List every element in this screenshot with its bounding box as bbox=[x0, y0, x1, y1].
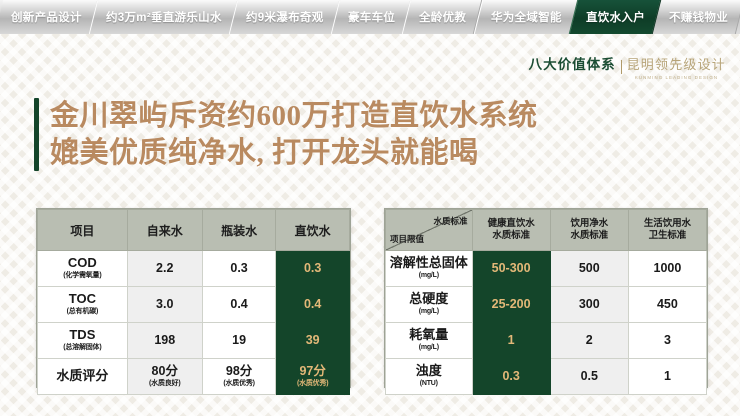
nav-tab-0[interactable]: 创新产品设计 bbox=[0, 0, 98, 34]
cell-tap-cod: 2.2 bbox=[127, 251, 202, 287]
header-diagonal-corner: 水质标准 项目限值 bbox=[386, 210, 473, 251]
cell-value: 25-200 bbox=[475, 298, 548, 312]
cell-value: 300 bbox=[553, 298, 626, 312]
header-healthy-direct-drinking: 健康直饮水 水质标准 bbox=[472, 210, 550, 251]
nav-tab-6-active[interactable]: 直饮水入户 bbox=[568, 0, 661, 34]
row-label-unit: (NTU) bbox=[388, 380, 470, 389]
row-label-main: 耗氧量 bbox=[388, 328, 470, 342]
cell-value: 0.3 bbox=[475, 370, 548, 384]
cell-bottled-cod: 0.3 bbox=[202, 251, 276, 287]
standards-table-head: 水质标准 项目限值 健康直饮水 水质标准 饮用净水 水质标准 生活饮用水 卫生标… bbox=[386, 210, 707, 251]
brand-sub-english: KUNMING LEADING DESIGN bbox=[635, 75, 718, 80]
header-line-2: 卫生标准 bbox=[631, 230, 704, 242]
cell-value: 0.3 bbox=[205, 262, 274, 276]
cell-tap-tds: 198 bbox=[127, 323, 202, 359]
cell-value: 0.3 bbox=[278, 262, 347, 276]
standards-grid: 水质标准 项目限值 健康直饮水 水质标准 饮用净水 水质标准 生活饮用水 卫生标… bbox=[385, 209, 707, 395]
headline-accent-bar bbox=[34, 98, 39, 171]
row-label-main: 水质评分 bbox=[40, 369, 125, 383]
cell-domestic-turbidity: 1 bbox=[628, 359, 706, 395]
header-bottled-water: 瓶装水 bbox=[202, 210, 276, 251]
corner-label-standard: 水质标准 bbox=[434, 215, 468, 227]
row-label-toc: TOC (总有机碳) bbox=[38, 287, 128, 323]
row-label-unit: (mg/L) bbox=[388, 344, 470, 353]
nav-tab-label: 华为全域智能 bbox=[490, 9, 561, 25]
cell-value: 2.2 bbox=[130, 262, 200, 276]
header-domestic-drinking: 生活饮用水 卫生标准 bbox=[628, 210, 706, 251]
row-label-sub: (总溶解固体) bbox=[40, 344, 125, 353]
cell-bottled-score: 98分 (水质优秀) bbox=[202, 359, 276, 395]
cell-value: 3 bbox=[631, 334, 704, 348]
cell-value-note: (水质优秀) bbox=[278, 380, 347, 389]
table-row: TOC (总有机碳) 3.0 0.4 0.4 bbox=[38, 287, 350, 323]
row-label-main: 浊度 bbox=[388, 364, 470, 378]
header-purified-drinking: 饮用净水 水质标准 bbox=[550, 210, 628, 251]
cell-value: 1 bbox=[475, 334, 548, 348]
header-line-2: 水质标准 bbox=[475, 230, 548, 242]
row-label-cod: COD (化学需氧量) bbox=[38, 251, 128, 287]
nav-tab-label: 直饮水入户 bbox=[585, 9, 644, 25]
cell-direct-tds: 39 bbox=[276, 323, 350, 359]
row-label-sub: (总有机碳) bbox=[40, 308, 125, 317]
cell-value: 0.4 bbox=[205, 298, 274, 312]
nav-tab-label: 约9米瀑布奇观 bbox=[246, 9, 324, 25]
row-label-main: 溶解性总固体 bbox=[388, 256, 470, 270]
cell-tap-score: 80分 (水质良好) bbox=[127, 359, 202, 395]
cell-healthy-oxygen-consumption: 1 bbox=[472, 323, 550, 359]
header-line-1: 饮用净水 bbox=[553, 218, 626, 230]
brand-main-text: 八大价值体系 bbox=[529, 58, 616, 73]
header-direct-drinking-water: 直饮水 bbox=[276, 210, 350, 251]
page-title: 金川翠屿斥资约600万打造直饮水系统 媲美优质纯净水, 打开龙头就能喝 bbox=[50, 98, 538, 171]
cell-healthy-total-hardness: 25-200 bbox=[472, 287, 550, 323]
cell-value: 97分 bbox=[278, 365, 347, 379]
cell-value: 198 bbox=[130, 334, 200, 348]
header-tap-water: 自来水 bbox=[127, 210, 202, 251]
cell-value: 2 bbox=[553, 334, 626, 348]
nav-tab-label: 创新产品设计 bbox=[11, 9, 82, 25]
nav-tab-4[interactable]: 全龄优教 bbox=[402, 0, 483, 34]
brand-divider bbox=[621, 60, 622, 74]
cell-value: 50-300 bbox=[475, 262, 548, 276]
brand-sub-text: 昆明领先级设计 bbox=[627, 58, 726, 73]
row-label-dissolved-solids: 溶解性总固体 (mg/L) bbox=[386, 251, 473, 287]
comparison-table-head: 项目 自来水 瓶装水 直饮水 bbox=[38, 210, 350, 251]
table-row: TDS (总溶解固体) 198 19 39 bbox=[38, 323, 350, 359]
table-row: 水质评分 80分 (水质良好) 98分 (水质优秀) 97分 (水质优秀) bbox=[38, 359, 350, 395]
cell-value: 1000 bbox=[631, 262, 704, 276]
cell-value: 0.5 bbox=[553, 370, 626, 384]
cell-healthy-turbidity: 0.3 bbox=[472, 359, 550, 395]
row-label-score: 水质评分 bbox=[38, 359, 128, 395]
cell-direct-cod: 0.3 bbox=[276, 251, 350, 287]
cell-value: 450 bbox=[631, 298, 704, 312]
row-label-sub: (化学需氧量) bbox=[40, 272, 125, 281]
cell-value: 39 bbox=[278, 334, 347, 348]
cell-domestic-dissolved-solids: 1000 bbox=[628, 251, 706, 287]
nav-tab-label: 全龄优教 bbox=[419, 9, 466, 25]
header-item: 项目 bbox=[38, 210, 128, 251]
cell-bottled-toc: 0.4 bbox=[202, 287, 276, 323]
comparison-grid: 项目 自来水 瓶装水 直饮水 COD (化学需氧量) 2.2 0.3 bbox=[37, 209, 350, 395]
nav-tab-3[interactable]: 豪车车位 bbox=[330, 0, 411, 34]
row-label-tds: TDS (总溶解固体) bbox=[38, 323, 128, 359]
standards-table-body: 溶解性总固体 (mg/L) 50-300 500 1000 总硬度 bbox=[386, 251, 707, 395]
nav-tab-5[interactable]: 华为全域智能 bbox=[473, 0, 578, 34]
row-label-turbidity: 浊度 (NTU) bbox=[386, 359, 473, 395]
table-header-row: 水质标准 项目限值 健康直饮水 水质标准 饮用净水 水质标准 生活饮用水 卫生标… bbox=[386, 210, 707, 251]
cell-domestic-total-hardness: 450 bbox=[628, 287, 706, 323]
nav-tab-1[interactable]: 约3万m²垂直游乐山水 bbox=[89, 0, 238, 34]
table-row: 耗氧量 (mg/L) 1 2 3 bbox=[386, 323, 707, 359]
nav-tab-label: 豪车车位 bbox=[347, 9, 394, 25]
water-comparison-table: 项目 自来水 瓶装水 直饮水 COD (化学需氧量) 2.2 0.3 bbox=[36, 208, 351, 388]
row-label-total-hardness: 总硬度 (mg/L) bbox=[386, 287, 473, 323]
comparison-table-body: COD (化学需氧量) 2.2 0.3 0.3 TOC bbox=[38, 251, 350, 395]
row-label-main: 总硬度 bbox=[388, 292, 470, 306]
row-label-main: COD bbox=[40, 256, 125, 270]
cell-value-note: (水质良好) bbox=[130, 380, 200, 389]
cell-healthy-dissolved-solids: 50-300 bbox=[472, 251, 550, 287]
cell-value: 0.4 bbox=[278, 298, 347, 312]
cell-purified-oxygen-consumption: 2 bbox=[550, 323, 628, 359]
slide-canvas: 创新产品设计 约3万m²垂直游乐山水 约9米瀑布奇观 豪车车位 全龄优教 华为全… bbox=[0, 0, 740, 416]
cell-purified-turbidity: 0.5 bbox=[550, 359, 628, 395]
cell-purified-total-hardness: 300 bbox=[550, 287, 628, 323]
top-navigation-bar: 创新产品设计 约3万m²垂直游乐山水 约9米瀑布奇观 豪车车位 全龄优教 华为全… bbox=[0, 0, 740, 34]
nav-tab-label: 不赚钱物业 bbox=[668, 9, 727, 25]
table-row: 溶解性总固体 (mg/L) 50-300 500 1000 bbox=[386, 251, 707, 287]
table-row: 总硬度 (mg/L) 25-200 300 450 bbox=[386, 287, 707, 323]
cell-value: 500 bbox=[553, 262, 626, 276]
header-line-2: 水质标准 bbox=[553, 230, 626, 242]
cell-purified-dissolved-solids: 500 bbox=[550, 251, 628, 287]
row-label-unit: (mg/L) bbox=[388, 272, 470, 281]
cell-tap-toc: 3.0 bbox=[127, 287, 202, 323]
cell-domestic-oxygen-consumption: 3 bbox=[628, 323, 706, 359]
table-row: COD (化学需氧量) 2.2 0.3 0.3 bbox=[38, 251, 350, 287]
table-row: 浊度 (NTU) 0.3 0.5 1 bbox=[386, 359, 707, 395]
row-label-unit: (mg/L) bbox=[388, 308, 470, 317]
cell-direct-toc: 0.4 bbox=[276, 287, 350, 323]
headline-block: 金川翠屿斥资约600万打造直饮水系统 媲美优质纯净水, 打开龙头就能喝 bbox=[34, 98, 538, 171]
row-label-main: TDS bbox=[40, 328, 125, 342]
row-label-main: TOC bbox=[40, 292, 125, 306]
brand-secondary-group: 昆明领先级设计 KUNMING LEADING DESIGN bbox=[627, 58, 726, 80]
cell-direct-score: 97分 (水质优秀) bbox=[276, 359, 350, 395]
table-header-row: 项目 自来水 瓶装水 直饮水 bbox=[38, 210, 350, 251]
cell-value-note: (水质优秀) bbox=[205, 380, 274, 389]
headline-line-1: 金川翠屿斥资约600万打造直饮水系统 bbox=[50, 98, 538, 135]
row-label-oxygen-consumption: 耗氧量 (mg/L) bbox=[386, 323, 473, 359]
nav-tab-2[interactable]: 约9米瀑布奇观 bbox=[229, 0, 340, 34]
cell-value: 1 bbox=[631, 370, 704, 384]
cell-value: 3.0 bbox=[130, 298, 200, 312]
header-line-1: 健康直饮水 bbox=[475, 218, 548, 230]
corner-label-limit: 项目限值 bbox=[390, 233, 424, 245]
brand-lockup: 八大价值体系 昆明领先级设计 KUNMING LEADING DESIGN bbox=[529, 58, 726, 80]
cell-value: 19 bbox=[205, 334, 274, 348]
nav-tab-7[interactable]: 不赚钱物业 bbox=[652, 0, 740, 34]
cell-value: 80分 bbox=[130, 365, 200, 379]
cell-bottled-tds: 19 bbox=[202, 323, 276, 359]
cell-value: 98分 bbox=[205, 365, 274, 379]
header-line-1: 生活饮用水 bbox=[631, 218, 704, 230]
nav-tab-label: 约3万m²垂直游乐山水 bbox=[106, 9, 222, 25]
headline-line-2: 媲美优质纯净水, 打开龙头就能喝 bbox=[50, 135, 538, 172]
water-standards-table: 水质标准 项目限值 健康直饮水 水质标准 饮用净水 水质标准 生活饮用水 卫生标… bbox=[384, 208, 708, 388]
